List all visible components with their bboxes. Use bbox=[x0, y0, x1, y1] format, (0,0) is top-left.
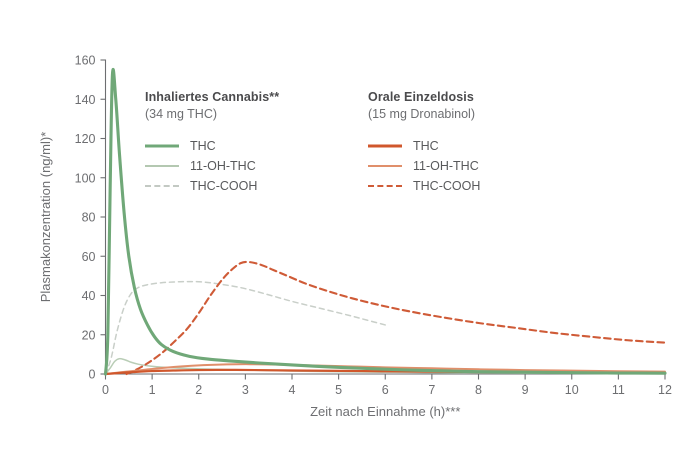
x-tick-label: 2 bbox=[195, 383, 202, 397]
x-tick-label: 0 bbox=[102, 383, 109, 397]
x-tick-label: 5 bbox=[335, 383, 342, 397]
x-tick-label: 1 bbox=[149, 383, 156, 397]
legend-inhaled-cannabis: Inhaliertes Cannabis** (34 mg THC) THC11… bbox=[145, 90, 279, 196]
x-tick-label: 9 bbox=[522, 383, 529, 397]
x-axis-title: Zeit nach Einnahme (h)*** bbox=[310, 404, 460, 419]
legend-inhaled-items: THC11-OH-THCTHC-COOH bbox=[145, 136, 279, 196]
axis-labels: 0204060801001201401600123456789101112Zei… bbox=[38, 54, 672, 420]
x-tick-label: 6 bbox=[382, 383, 389, 397]
legend-label: THC bbox=[190, 139, 216, 153]
legend-swatch-solid bbox=[368, 160, 402, 172]
series-oral-thc-cooh bbox=[126, 262, 665, 374]
legend-swatch-dashed bbox=[368, 180, 402, 192]
legend-item-inhaled-11-oh-thc: 11-OH-THC bbox=[145, 156, 279, 176]
chart-container: 0204060801001201401600123456789101112Zei… bbox=[0, 0, 693, 459]
legend-oral-items: THC11-OH-THCTHC-COOH bbox=[368, 136, 480, 196]
y-tick-label: 40 bbox=[82, 289, 96, 303]
legend-label: THC-COOH bbox=[413, 179, 480, 193]
legend-oral-title: Orale Einzeldosis bbox=[368, 90, 480, 106]
legend-swatch-solid bbox=[368, 140, 402, 152]
x-tick-label: 11 bbox=[612, 383, 625, 397]
legend-label: THC bbox=[413, 139, 439, 153]
legend-swatch-solid bbox=[145, 160, 179, 172]
y-tick-label: 120 bbox=[75, 132, 96, 146]
y-tick-label: 80 bbox=[82, 211, 96, 225]
legend-inhaled-title: Inhaliertes Cannabis** bbox=[145, 90, 279, 106]
x-tick-label: 4 bbox=[289, 383, 296, 397]
x-tick-label: 7 bbox=[428, 383, 435, 397]
x-tick-label: 8 bbox=[475, 383, 482, 397]
legend-item-inhaled-thc: THC bbox=[145, 136, 279, 156]
legend-oral-dose: Orale Einzeldosis (15 mg Dronabinol) THC… bbox=[368, 90, 480, 196]
x-tick-label: 3 bbox=[242, 383, 249, 397]
y-tick-label: 100 bbox=[75, 171, 96, 185]
legend-item-inhaled-thc-cooh: THC-COOH bbox=[145, 176, 279, 196]
y-tick-label: 0 bbox=[89, 368, 96, 382]
y-tick-label: 140 bbox=[75, 93, 96, 107]
legend-item-oral-thc: THC bbox=[368, 136, 480, 156]
pharmacokinetics-line-chart: 0204060801001201401600123456789101112Zei… bbox=[0, 0, 693, 459]
legend-swatch-solid bbox=[145, 140, 179, 152]
legend-oral-subtitle: (15 mg Dronabinol) bbox=[368, 106, 480, 123]
y-tick-label: 20 bbox=[82, 328, 96, 342]
x-tick-label: 10 bbox=[565, 383, 579, 397]
legend-item-oral-11-oh-thc: 11-OH-THC bbox=[368, 156, 480, 176]
legend-item-oral-thc-cooh: THC-COOH bbox=[368, 176, 480, 196]
x-tick-label: 12 bbox=[658, 383, 672, 397]
legend-label: 11-OH-THC bbox=[413, 159, 479, 173]
y-tick-label: 160 bbox=[75, 54, 96, 68]
legend-label: THC-COOH bbox=[190, 179, 257, 193]
legend-inhaled-subtitle: (34 mg THC) bbox=[145, 106, 279, 123]
legend-label: 11-OH-THC bbox=[190, 159, 256, 173]
legend-swatch-dashed bbox=[145, 180, 179, 192]
y-tick-label: 60 bbox=[82, 250, 96, 264]
y-axis-title: Plasmakonzentration (ng/ml)* bbox=[38, 132, 53, 303]
